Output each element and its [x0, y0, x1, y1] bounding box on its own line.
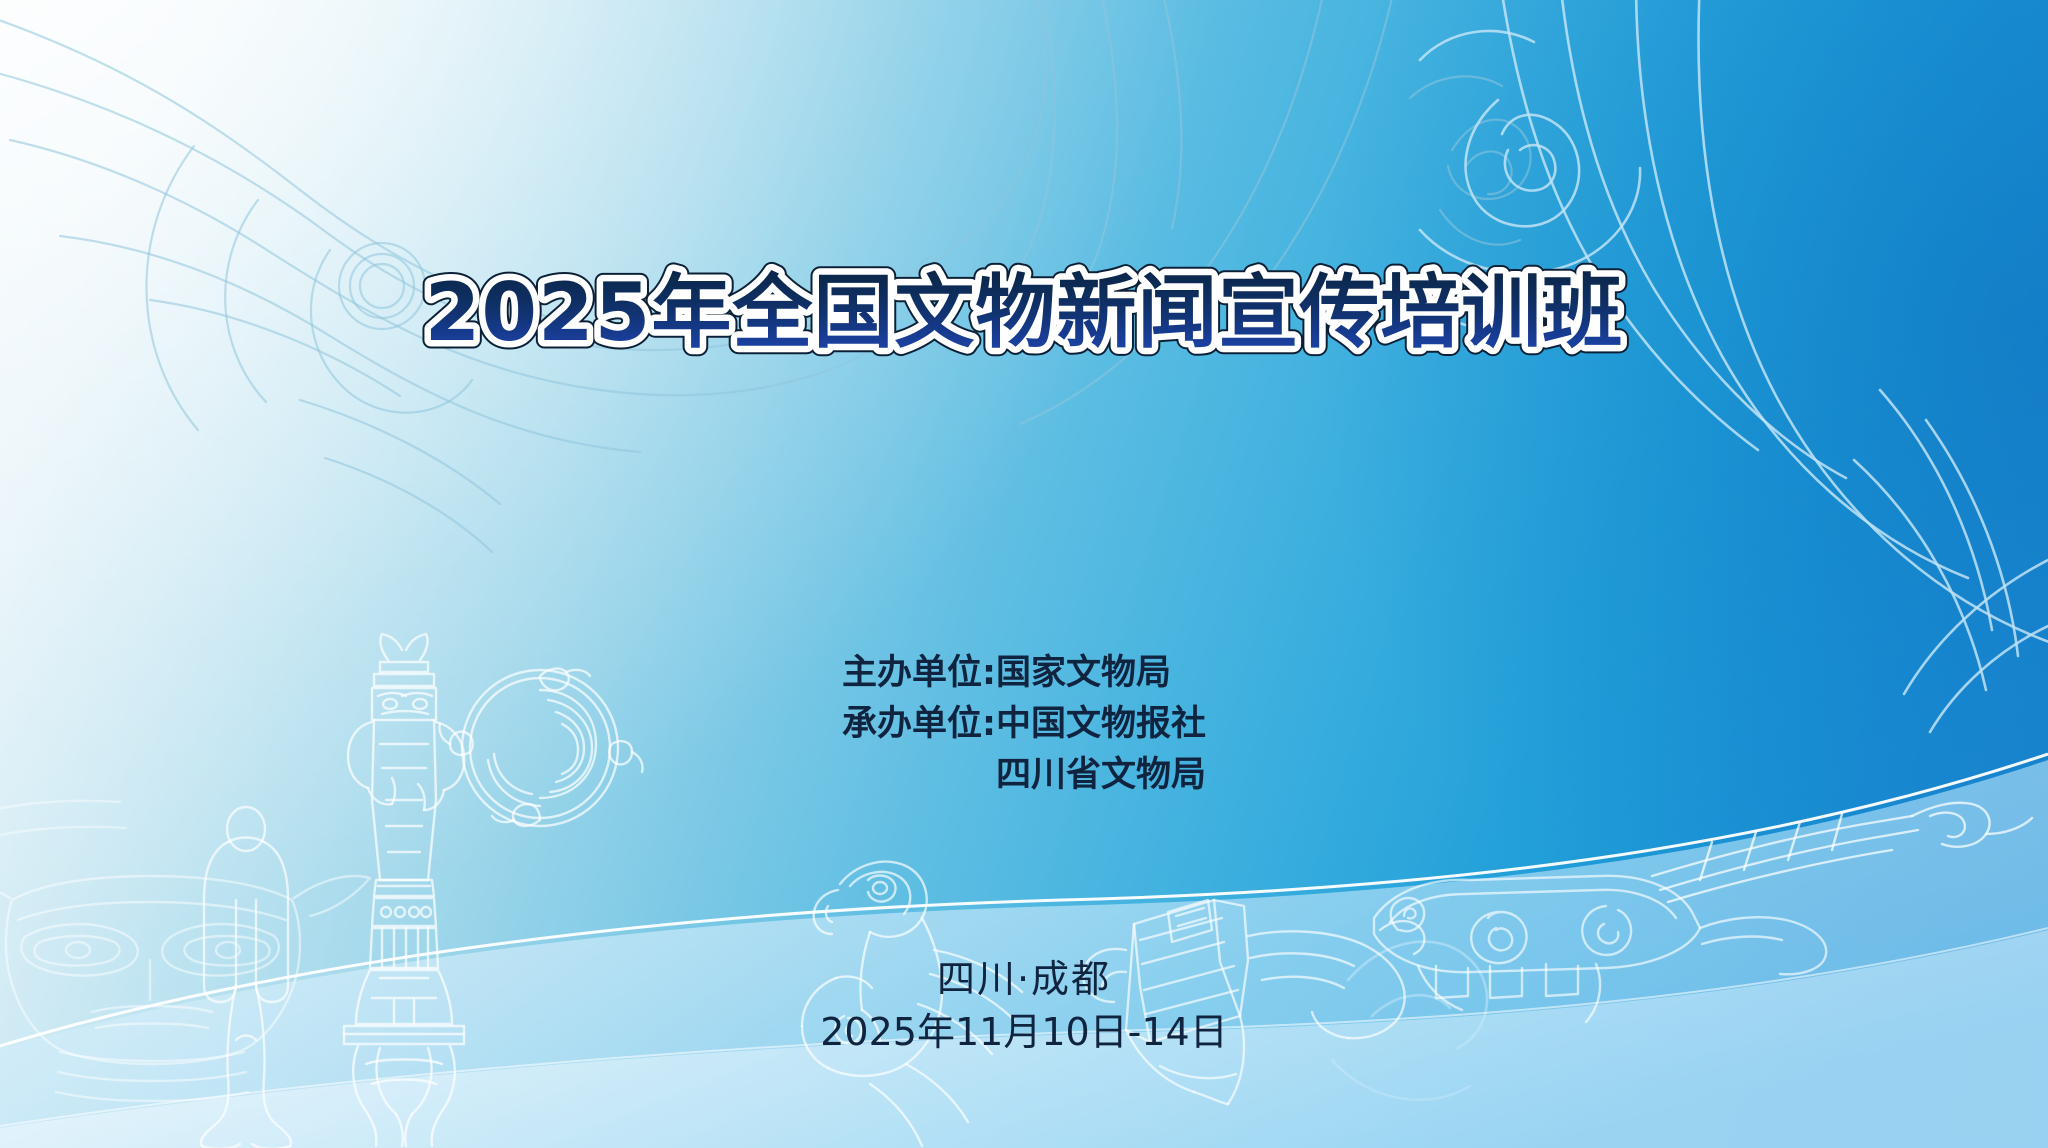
- banner-title-rim: 2025年全国文物新闻宣传培训班: [425, 266, 1624, 359]
- organizer-block: 主办单位:国家文物局 承办单位:中国文物报社 四川省文物局: [842, 648, 1206, 800]
- banner-title-text: 2025年全国文物新闻宣传培训班: [425, 266, 1624, 359]
- banner-title-wrap: 2025年全国文物新闻宣传培训班 2025年全国文物新闻宣传培训班 2025年全…: [0, 232, 2048, 382]
- organizer-line-host: 主办单位:国家文物局: [842, 648, 1206, 699]
- right-edge-shade: [1308, 0, 2048, 1100]
- organizer-line-coorganizer: 四川省文物局: [842, 750, 1206, 801]
- banner-title-outline: 2025年全国文物新闻宣传培训班: [425, 266, 1624, 359]
- date-text: 2025年11月10日-14日: [820, 1008, 1227, 1057]
- place-date-block: 四川·成都 2025年11月10日-14日: [820, 955, 1227, 1058]
- banner-title-svg: 2025年全国文物新闻宣传培训班 2025年全国文物新闻宣传培训班 2025年全…: [0, 232, 2048, 382]
- top-left-glow: [0, 0, 1280, 980]
- banner-backdrop: 2025年全国文物新闻宣传培训班 2025年全国文物新闻宣传培训班 2025年全…: [0, 0, 2048, 1148]
- location-text: 四川·成都: [820, 955, 1227, 1004]
- organizer-line-undertaker: 承办单位:中国文物报社: [842, 699, 1206, 750]
